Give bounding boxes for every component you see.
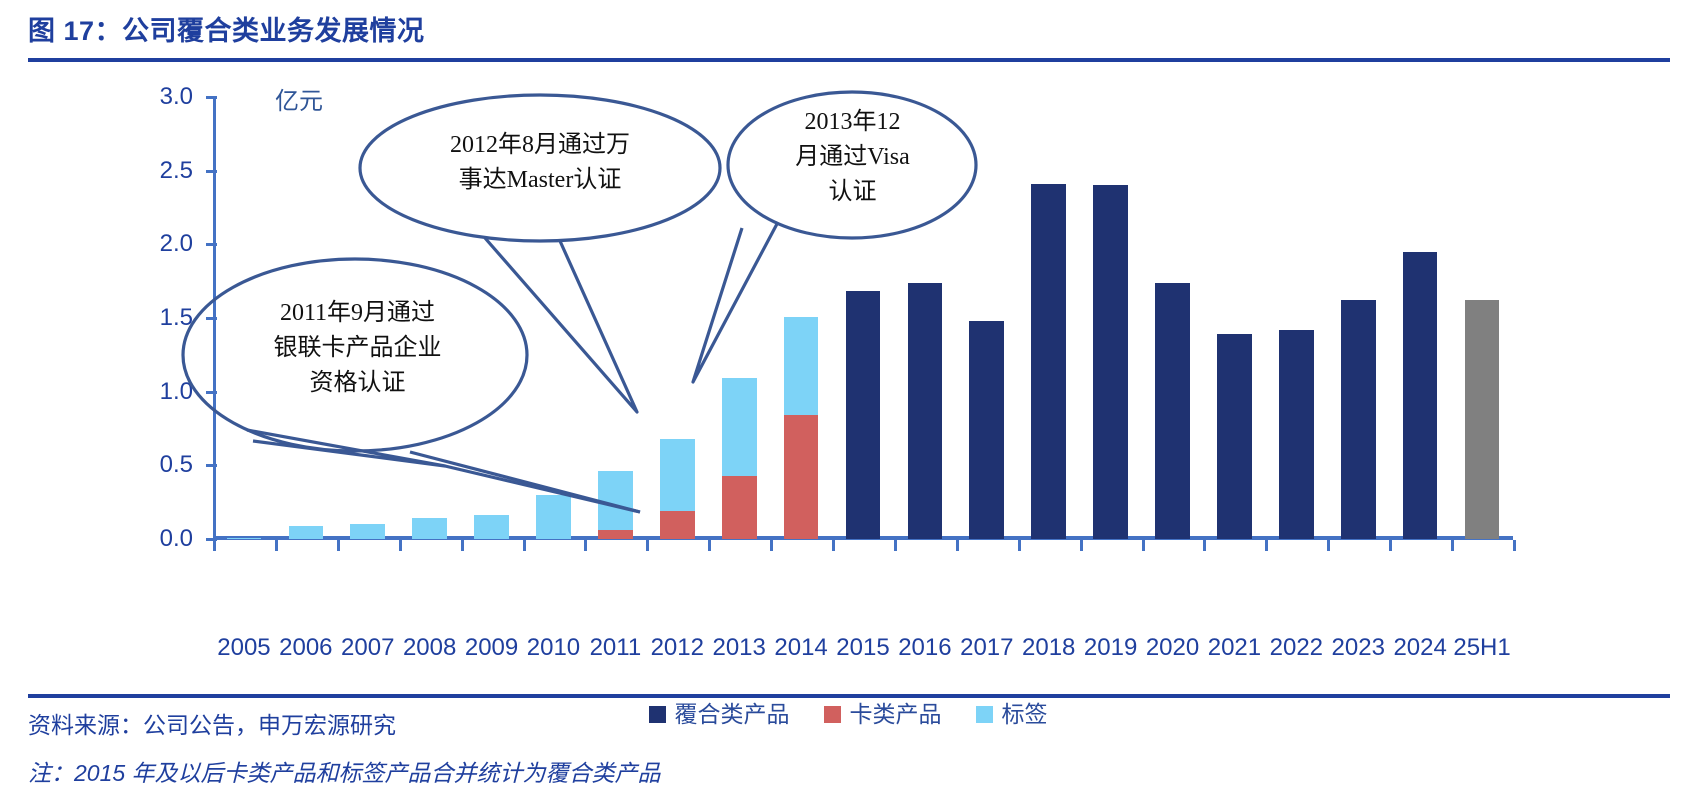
- x-tick-mark: [1142, 540, 1145, 551]
- x-label-2016: 2016: [894, 633, 956, 663]
- callout-2013-text: 2013年12 月通过Visa 认证: [760, 105, 945, 210]
- bar-segment-card: [598, 530, 633, 539]
- legend-swatch-icon: [824, 706, 841, 723]
- x-tick-mark: [646, 540, 649, 551]
- x-tick-mark: [1203, 540, 1206, 551]
- bar-segment-tag: [660, 439, 695, 511]
- y-tick-label: 3.0: [133, 85, 193, 109]
- bar-2012[interactable]: [660, 97, 695, 539]
- x-tick-mark: [1327, 540, 1330, 551]
- x-label-2012: 2012: [646, 633, 708, 663]
- legend-label: 卡类产品: [850, 701, 942, 727]
- x-label-2013: 2013: [708, 633, 770, 663]
- footer-divider: [28, 694, 1670, 698]
- bar-segment-card: [660, 511, 695, 539]
- x-tick-mark: [275, 540, 278, 551]
- figure-container: 图 17：公司覆合类业务发展情况 亿元 0.00.51.01.52.02.53.…: [0, 0, 1696, 810]
- bar-2021[interactable]: [1217, 97, 1252, 539]
- source-text: 资料来源：公司公告，申万宏源研究: [28, 710, 396, 740]
- x-label-2014: 2014: [770, 633, 832, 663]
- x-label-2024: 2024: [1389, 633, 1451, 663]
- title-divider: [28, 58, 1670, 62]
- y-tick-label: 0.0: [133, 527, 193, 551]
- y-tick-label: 2.5: [133, 159, 193, 183]
- bar-2017[interactable]: [969, 97, 1004, 539]
- bar-2019[interactable]: [1093, 97, 1128, 539]
- legend-swatch-icon: [649, 706, 666, 723]
- x-label-2018: 2018: [1018, 633, 1080, 663]
- legend-item-composite[interactable]: 覆合类产品: [649, 701, 790, 727]
- bar-2018[interactable]: [1031, 97, 1066, 539]
- bar-segment-composite: [846, 291, 881, 539]
- x-label-2022: 2022: [1265, 633, 1327, 663]
- callout-2012-text: 2012年8月通过万 事达Master认证: [415, 128, 665, 198]
- y-tick-label: 0.5: [133, 453, 193, 477]
- bar-segment-composite: [1155, 283, 1190, 539]
- legend-item-card[interactable]: 卡类产品: [824, 701, 942, 727]
- x-axis-labels: 2005200620072008200920102011201220132014…: [213, 633, 1513, 667]
- bar-segment-tag: [474, 515, 509, 539]
- bar-segment-composite: [1093, 185, 1128, 539]
- x-label-2009: 2009: [461, 633, 523, 663]
- x-tick-mark: [832, 540, 835, 551]
- x-tick-mark: [523, 540, 526, 551]
- bar-segment-tag: [227, 538, 262, 539]
- x-label-2007: 2007: [337, 633, 399, 663]
- x-tick-mark: [337, 540, 340, 551]
- x-tick-mark: [1389, 540, 1392, 551]
- bar-2024[interactable]: [1403, 97, 1438, 539]
- bar-segment-composite: [908, 283, 943, 539]
- x-tick-mark: [956, 540, 959, 551]
- bar-segment-tag: [289, 526, 324, 539]
- x-tick-mark: [213, 540, 216, 551]
- page-title-wrap: 图 17：公司覆合类业务发展情况: [28, 14, 1670, 48]
- x-label-2008: 2008: [399, 633, 461, 663]
- x-tick-mark: [1080, 540, 1083, 551]
- x-tick-mark: [1018, 540, 1021, 551]
- bar-segment-tag: [784, 317, 819, 416]
- x-tick-mark: [1513, 540, 1516, 551]
- page-title: 图 17：公司覆合类业务发展情况: [28, 14, 1670, 48]
- bar-segment-card: [722, 476, 757, 539]
- bar-segment-composite: [1279, 330, 1314, 539]
- bar-2023[interactable]: [1341, 97, 1376, 539]
- bar-segment-tag: [598, 471, 633, 530]
- bar-segment-card: [784, 415, 819, 539]
- x-tick-mark: [461, 540, 464, 551]
- x-label-2006: 2006: [275, 633, 337, 663]
- y-tick-label: 1.0: [133, 380, 193, 404]
- bar-25H1[interactable]: [1465, 97, 1500, 539]
- bar-segment-tag: [412, 518, 447, 539]
- x-label-2019: 2019: [1080, 633, 1142, 663]
- x-label-2020: 2020: [1142, 633, 1204, 663]
- x-label-2015: 2015: [832, 633, 894, 663]
- legend-swatch-icon: [976, 706, 993, 723]
- x-tick-mark: [399, 540, 402, 551]
- bar-2020[interactable]: [1155, 97, 1190, 539]
- x-label-2011: 2011: [584, 633, 646, 663]
- bar-2022[interactable]: [1279, 97, 1314, 539]
- bar-segment-composite: [1031, 184, 1066, 539]
- x-label-25H1: 25H1: [1451, 633, 1513, 663]
- bar-segment-composite: [1403, 252, 1438, 539]
- legend-label: 标签: [1002, 701, 1048, 727]
- bar-2013[interactable]: [722, 97, 757, 539]
- bar-segment-tag: [536, 495, 571, 539]
- bar-segment-composite: [1341, 300, 1376, 539]
- bar-segment-composite: [969, 321, 1004, 539]
- y-tick-label: 2.0: [133, 232, 193, 256]
- bar-segment-composite: [1465, 300, 1500, 539]
- legend-item-tag[interactable]: 标签: [976, 701, 1048, 727]
- x-tick-mark: [894, 540, 897, 551]
- bar-segment-tag: [350, 524, 385, 539]
- x-label-2021: 2021: [1203, 633, 1265, 663]
- callout-2011-text: 2011年9月通过 银联卡产品企业 资格认证: [235, 296, 480, 401]
- x-tick-mark: [770, 540, 773, 551]
- bar-segment-tag: [722, 378, 757, 475]
- x-label-2017: 2017: [956, 633, 1018, 663]
- x-label-2023: 2023: [1327, 633, 1389, 663]
- y-tick-label: 1.5: [133, 306, 193, 330]
- note-text: 注：2015 年及以后卡类产品和标签产品合并统计为覆合类产品: [28, 758, 661, 788]
- legend-label: 覆合类产品: [675, 701, 790, 727]
- x-tick-mark: [1451, 540, 1454, 551]
- bar-segment-composite: [1217, 334, 1252, 539]
- x-label-2010: 2010: [523, 633, 585, 663]
- x-tick-mark: [584, 540, 587, 551]
- x-tick-mark: [708, 540, 711, 551]
- x-tick-mark: [1265, 540, 1268, 551]
- x-label-2005: 2005: [213, 633, 275, 663]
